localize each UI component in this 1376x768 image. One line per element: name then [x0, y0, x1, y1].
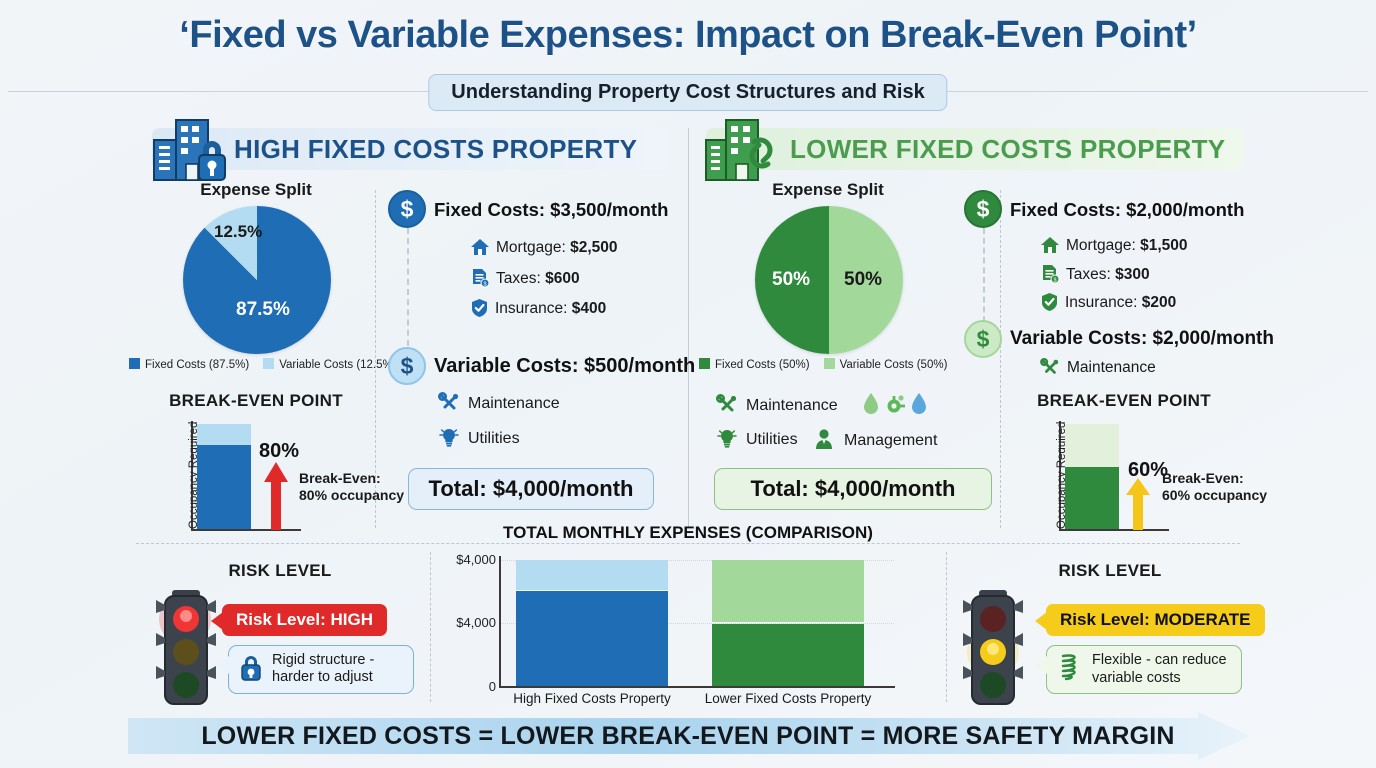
right-risk-pill: Risk Level: MODERATE: [1046, 604, 1265, 636]
traffic-light-red: [155, 588, 219, 700]
left-be-percent: 80%: [259, 440, 299, 463]
wrench-screwdriver-icon: [438, 395, 468, 412]
right-be-note: Break-Even: 60% occupancy: [1162, 470, 1267, 504]
cc-ytick-top: $4,000: [432, 552, 496, 567]
right-be-bar-remaining: [1065, 424, 1119, 467]
left-fixed-item-taxes: $ Taxes: $600: [470, 268, 580, 288]
gear-icon: [884, 392, 906, 421]
left-pie-fixed-label: 87.5%: [236, 299, 290, 321]
right-pie-variable-label: 50%: [844, 269, 882, 291]
right-risk-callout: Flexible - can reduce variable costs: [1046, 645, 1242, 694]
right-center-item-management: Management: [812, 428, 937, 450]
left-fixed-item-insurance: Insurance: $400: [470, 298, 606, 318]
left-variable-item-maintenance: Maintenance: [438, 392, 560, 413]
manager-icon: [812, 432, 844, 449]
left-fixed-item-mortgage: Mortgage: $2,500: [470, 238, 618, 257]
left-risk-callout: Rigid structure - harder to adjust: [228, 645, 414, 694]
right-risk-divider: [946, 552, 947, 702]
right-risk-callout-pointer: [1035, 656, 1047, 674]
left-risk-callout-pointer: [217, 656, 229, 674]
right-fixed-item-taxes: $ Taxes: $300: [1040, 264, 1150, 284]
left-risk-title: RISK LEVEL: [150, 561, 410, 581]
left-breakeven-title: BREAK-EVEN POINT: [150, 391, 362, 411]
document-tax-icon: $: [470, 270, 496, 287]
legend-item-variable: Variable Costs (50%): [824, 358, 948, 371]
house-icon: [470, 239, 496, 256]
right-total-box: Total: $4,000/month: [714, 468, 992, 510]
left-fixed-costs-head: Fixed Costs: $3,500/month: [434, 199, 668, 221]
right-panel-title: LOWER FIXED COSTS PROPERTY: [790, 134, 1225, 165]
right-fixed-cost-badge: $: [964, 190, 1002, 228]
left-pie-variable-label: 12.5%: [214, 222, 262, 242]
wrench-screwdriver-icon: [1040, 359, 1067, 376]
right-column-divider: [1000, 190, 1001, 528]
shield-check-icon: [470, 300, 495, 317]
cc-y-axis: [499, 556, 501, 687]
right-pie-legend: Fixed Costs (50%) Variable Costs (50%): [699, 358, 947, 371]
right-pie-fixed-label: 50%: [772, 269, 810, 291]
right-be-bar-required: [1065, 467, 1119, 529]
cc-ytick-mid: $4,000: [432, 615, 496, 630]
right-panel-header: LOWER FIXED COSTS PROPERTY: [706, 128, 1244, 170]
shield-check-icon: [1040, 294, 1065, 311]
lock-icon: [239, 653, 263, 686]
right-variable-cost-badge: $: [964, 320, 1002, 358]
left-risk-pill-pointer: [211, 612, 223, 630]
left-variable-costs-head: Variable Costs: $500/month: [434, 355, 695, 378]
water-drop-green-icon: [862, 392, 880, 421]
house-icon: [1040, 237, 1066, 254]
left-panel-header: HIGH FIXED COSTS PROPERTY: [152, 128, 670, 170]
left-cost-connector: [407, 228, 409, 356]
header-rule-right: [938, 91, 1368, 92]
right-variable-costs-head: Variable Costs: $2,000/month: [1010, 328, 1274, 350]
cc-bar-lower-fixed: [712, 624, 864, 686]
legend-item-fixed: Fixed Costs (87.5%): [129, 358, 249, 371]
right-risk-pill-pointer: [1035, 612, 1047, 630]
water-drop-blue-icon: [910, 392, 928, 421]
infographic-canvas: ‘Fixed vs Variable Expenses: Impact on B…: [0, 0, 1376, 768]
page-subtitle: Understanding Property Cost Structures a…: [428, 74, 947, 111]
center-divider: [688, 128, 689, 528]
cc-bar-high-variable: [516, 560, 668, 590]
left-variable-item-utilities: Utilities: [438, 427, 520, 448]
right-risk-callout-text: Flexible - can reduce variable costs: [1092, 652, 1227, 687]
up-arrow-yellow-icon: [1124, 478, 1152, 535]
right-center-item-utilities: Utilities: [716, 428, 798, 449]
cc-x-axis: [499, 686, 895, 688]
legend-item-variable: Variable Costs (12.5%): [263, 358, 396, 371]
right-center-item-maintenance: Maintenance: [716, 394, 838, 415]
right-cost-connector: [983, 228, 985, 332]
right-fixed-costs-head: Fixed Costs: $2,000/month: [1010, 199, 1244, 221]
up-arrow-red-icon: [262, 462, 290, 535]
traffic-light-yellow: [962, 588, 1026, 700]
svg-text:$: $: [1053, 277, 1056, 283]
cc-ytick-zero: 0: [432, 679, 496, 694]
lightbulb-icon: [438, 430, 468, 447]
header-rule-left: [8, 91, 438, 92]
wrench-screwdriver-icon: [716, 397, 746, 414]
right-be-x-axis: [1059, 529, 1169, 531]
lower-section-divider: [136, 543, 1240, 544]
left-be-note: Break-Even: 80% occupancy: [299, 470, 404, 504]
cc-bar-lower-variable: [712, 560, 864, 622]
right-expense-split-title: Expense Split: [722, 180, 934, 200]
left-total-box: Total: $4,000/month: [408, 468, 654, 510]
document-tax-icon: $: [1040, 266, 1066, 283]
cc-xtick-lower: Lower Fixed Costs Property: [698, 691, 878, 706]
svg-text:$: $: [483, 281, 486, 287]
left-risk-pill: Risk Level: HIGH: [222, 604, 387, 636]
left-risk-divider: [430, 552, 431, 702]
right-breakeven-title: BREAK-EVEN POINT: [1018, 391, 1230, 411]
lightbulb-icon: [716, 431, 746, 448]
cc-bar-high-fixed: [516, 591, 668, 686]
left-pie-legend: Fixed Costs (87.5%) Variable Costs (12.5…: [129, 358, 397, 371]
right-fixed-item-insurance: Insurance: $200: [1040, 292, 1176, 312]
bottom-banner-text: LOWER FIXED COSTS = LOWER BREAK-EVEN POI…: [0, 712, 1376, 760]
cc-xtick-high: High Fixed Costs Property: [502, 691, 682, 706]
right-fixed-item-mortgage: Mortgage: $1,500: [1040, 236, 1188, 255]
left-be-bar-required: [197, 445, 251, 529]
left-risk-callout-text: Rigid structure - harder to adjust: [272, 652, 374, 687]
right-risk-title: RISK LEVEL: [980, 561, 1240, 581]
page-title: ‘Fixed vs Variable Expenses: Impact on B…: [0, 14, 1376, 57]
left-panel-title: HIGH FIXED COSTS PROPERTY: [234, 134, 637, 165]
left-expense-split-title: Expense Split: [150, 180, 362, 200]
comparison-chart-title: TOTAL MONTHLY EXPENSES (COMPARISON): [428, 523, 948, 543]
left-be-bar-remaining: [197, 424, 251, 445]
left-variable-cost-badge: $: [388, 347, 426, 385]
legend-item-fixed: Fixed Costs (50%): [699, 358, 810, 371]
left-fixed-cost-badge: $: [388, 190, 426, 228]
right-variable-item-maintenance-top: Maintenance: [1040, 358, 1156, 377]
spring-coil-icon: [1057, 652, 1083, 687]
